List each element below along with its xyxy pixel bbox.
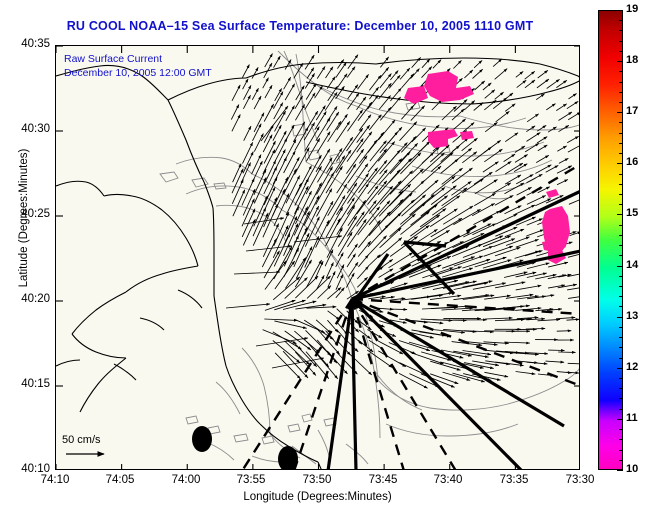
colorbar-minor-tick [619, 358, 623, 359]
colorbar-minor-tick [619, 306, 623, 307]
colorbar-tickmark-13 [617, 317, 623, 318]
ytick-4: 40:15 [2, 378, 50, 390]
colorbar-minor-tick [619, 388, 623, 389]
colorbar-minor-tick [619, 337, 623, 338]
xtick-4: 73:50 [287, 474, 347, 486]
temperature-colorbar[interactable] [598, 10, 623, 470]
colorbar-tick-19: 19 [626, 3, 650, 15]
colorbar-minor-tick [619, 184, 623, 185]
coastline [56, 58, 580, 470]
colorbar-tickmark-14 [617, 266, 623, 267]
y-axis-label: Latitude (Degrees:Minutes) [18, 108, 30, 328]
colorbar-minor-tick [619, 450, 623, 451]
colorbar-minor-tick [619, 51, 623, 52]
colorbar-minor-tick [619, 122, 623, 123]
colorbar-minor-tick [619, 20, 623, 21]
xtick-1: 74:05 [90, 474, 150, 486]
xtick-0: 74:10 [25, 474, 85, 486]
xtick-2: 74:00 [156, 474, 216, 486]
surface-current-vectors [226, 54, 580, 389]
colorbar-tick-17: 17 [626, 105, 650, 117]
inset-annotation-line1: Raw Surface Current [64, 53, 162, 65]
colorbar-minor-tick [619, 133, 623, 134]
xtick-3: 73:55 [221, 474, 281, 486]
colorbar-minor-tick [619, 378, 623, 379]
colorbar-minor-tick [619, 276, 623, 277]
colorbar-minor-tick [619, 102, 623, 103]
map-canvas [56, 46, 580, 470]
colorbar-minor-tick [619, 245, 623, 246]
colorbar-tickmark-19 [617, 10, 623, 11]
colorbar-minor-tick [619, 174, 623, 175]
colorbar-minor-tick [619, 143, 623, 144]
colorbar-tickmark-15 [617, 214, 623, 215]
colorbar-minor-tick [619, 235, 623, 236]
colorbar-tickmark-17 [617, 112, 623, 113]
xtick-7: 73:35 [484, 474, 544, 486]
inset-annotation-line2: December 10, 2005 12:00 GMT [64, 67, 212, 79]
sst-figure: RU COOL NOAA–15 Sea Surface Temperature:… [0, 0, 651, 519]
colorbar-tickmark-16 [617, 163, 623, 164]
xtick-5: 73:45 [353, 474, 413, 486]
radar-sector-lines [242, 164, 580, 470]
colorbar-tick-15: 15 [626, 207, 650, 219]
colorbar-tickmark-12 [617, 368, 623, 369]
x-axis-label: Longitude (Degrees:Minutes) [55, 491, 580, 503]
colorbar-tick-14: 14 [626, 259, 650, 271]
colorbar-minor-tick [619, 153, 623, 154]
axis-tickmarks [56, 46, 580, 470]
radar-station-markers[interactable] [192, 426, 298, 470]
colorbar-minor-tick [619, 194, 623, 195]
colorbar-tickmark-18 [617, 61, 623, 62]
colorbar-minor-tick [619, 255, 623, 256]
colorbar-minor-tick [619, 30, 623, 31]
colorbar-minor-tick [619, 439, 623, 440]
colorbar-minor-tick [619, 41, 623, 42]
colorbar-minor-tick [619, 409, 623, 410]
colorbar-minor-tick [619, 225, 623, 226]
colorbar-minor-tick [619, 398, 623, 399]
xtick-6: 73:40 [418, 474, 478, 486]
colorbar-minor-tick [619, 71, 623, 72]
x-axis-ticks: 74:10 74:05 74:00 73:55 73:50 73:45 73:4… [55, 474, 580, 490]
colorbar-minor-tick [619, 204, 623, 205]
colorbar-tick-16: 16 [626, 156, 650, 168]
colorbar-minor-tick [619, 327, 623, 328]
colorbar-tick-18: 18 [626, 54, 650, 66]
colorbar-minor-tick [619, 92, 623, 93]
colorbar-tick-11: 11 [626, 412, 650, 424]
colorbar-minor-tick [619, 286, 623, 287]
colorbar-tickmark-10 [617, 470, 623, 471]
figure-title: RU COOL NOAA–15 Sea Surface Temperature:… [0, 19, 600, 33]
map-plot-area[interactable]: Raw Surface Current December 10, 2005 12… [55, 45, 580, 470]
ytick-0: 40:35 [2, 38, 50, 50]
colorbar-minor-tick [619, 347, 623, 348]
colorbar-minor-tick [619, 460, 623, 461]
colorbar-minor-tick [619, 82, 623, 83]
vector-scale-label: 50 cm/s [62, 434, 101, 446]
colorbar-tick-10: 10 [626, 463, 650, 475]
colorbar-tick-13: 13 [626, 310, 650, 322]
colorbar-tick-12: 12 [626, 361, 650, 373]
colorbar-minor-tick [619, 429, 623, 430]
xtick-8: 73:30 [550, 474, 610, 486]
colorbar-tickmark-11 [617, 419, 623, 420]
colorbar-minor-tick [619, 296, 623, 297]
station-marker-west [192, 426, 212, 452]
